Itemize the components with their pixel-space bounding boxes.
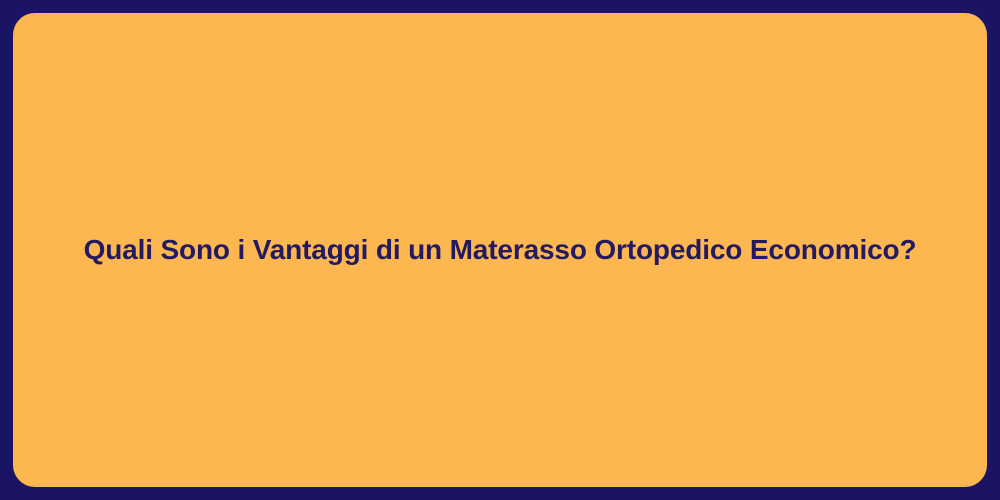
banner-panel: Quali Sono i Vantaggi di un Materasso Or… [13, 13, 987, 487]
page-title: Quali Sono i Vantaggi di un Materasso Or… [84, 232, 917, 268]
banner-frame: Quali Sono i Vantaggi di un Materasso Or… [0, 0, 1000, 500]
